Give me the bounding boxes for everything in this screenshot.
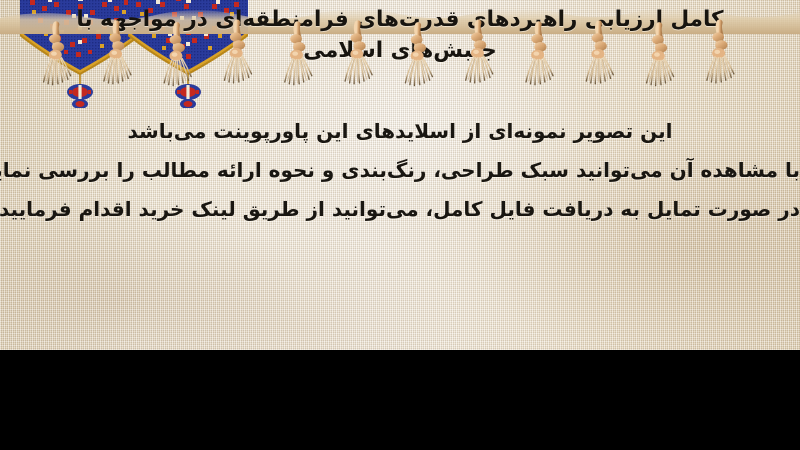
- body-line-2: با مشاهده آن می‌توانید سبک طراحی، رنگ‌بن…: [0, 151, 800, 190]
- body-line-1: این تصویر نمونه‌ای از اسلایدهای این پاور…: [0, 112, 800, 151]
- presentation-slide: کامل ارزیابی راهبردهای قدرت‌های فرامنطقه…: [0, 0, 800, 450]
- carpet-fringe-band: [0, 350, 800, 450]
- body-line-3: در صورت تمایل به دریافت فایل کامل، می‌تو…: [0, 190, 800, 229]
- slide-body: این تصویر نمونه‌ای از اسلایدهای این پاور…: [0, 112, 800, 229]
- carpet-tassels: [0, 10, 800, 100]
